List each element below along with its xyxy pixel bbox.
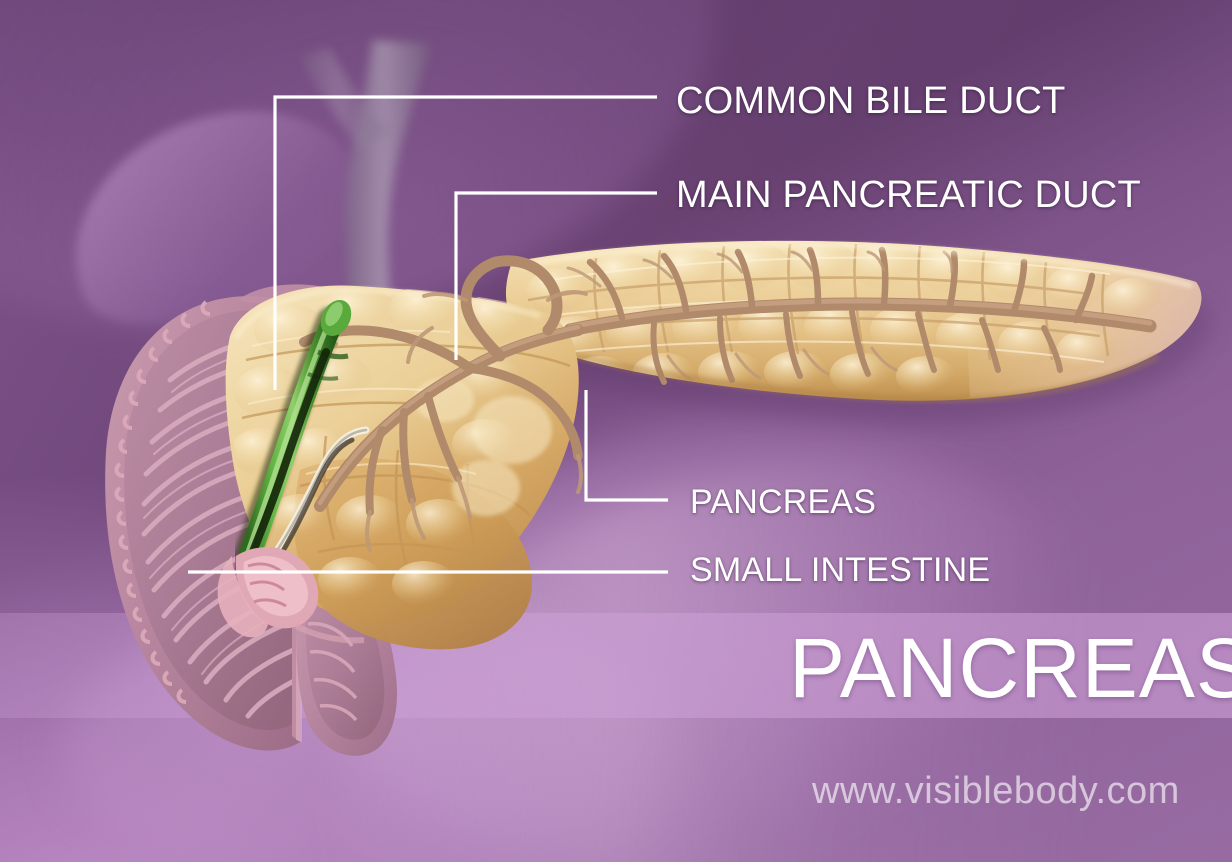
page-title: PANCREAS [789, 626, 1232, 710]
label-small-intestine: SMALL INTESTINE [690, 553, 990, 587]
label-common-bile-duct: COMMON BILE DUCT [676, 82, 1066, 120]
pancreas-body-tail [506, 241, 1211, 425]
watermark: www.visiblebody.com [812, 772, 1180, 810]
label-pancreas: PANCREAS [690, 485, 876, 519]
leader-pancreas [586, 390, 668, 500]
anatomy-artwork [0, 0, 1232, 862]
label-main-pancreatic-duct: MAIN PANCREATIC DUCT [676, 176, 1141, 214]
pancreas-illustration: COMMON BILE DUCT MAIN PANCREATIC DUCT PA… [0, 0, 1232, 862]
